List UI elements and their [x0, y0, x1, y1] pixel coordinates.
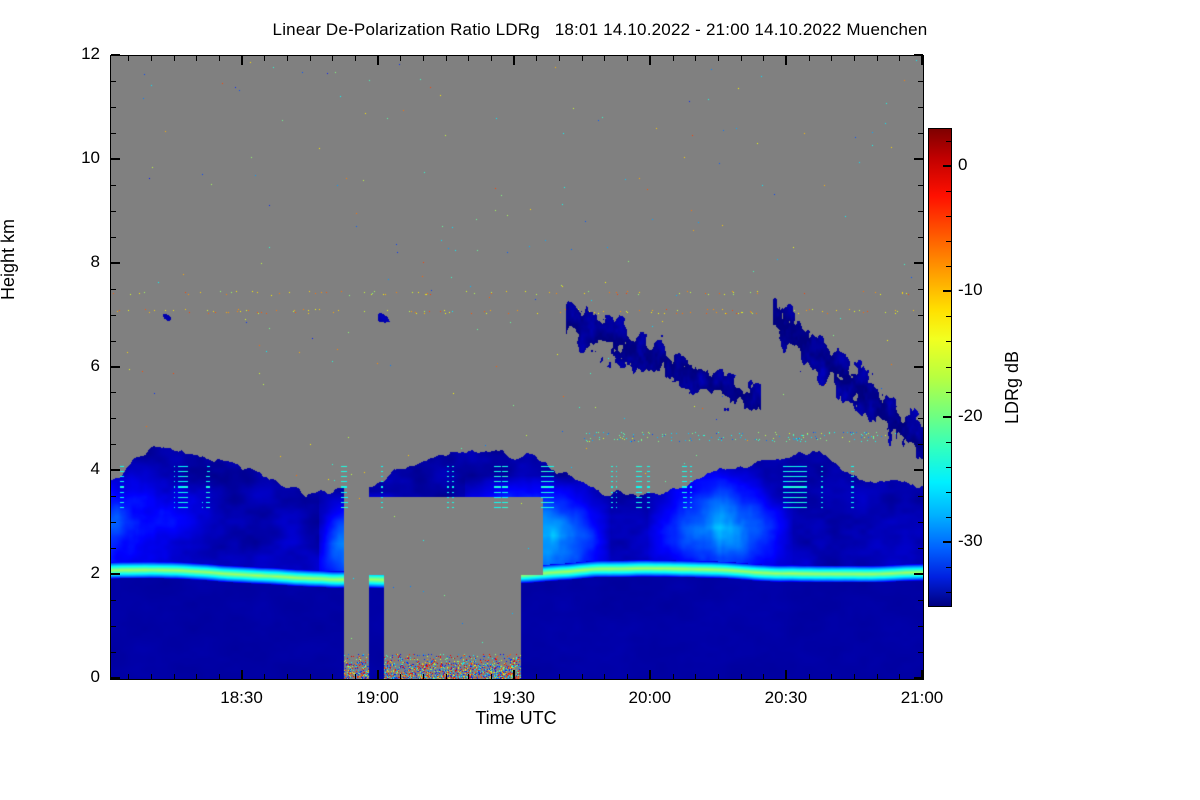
x-tick-minor-top [741, 56, 742, 61]
y-tick-minor-right [918, 237, 923, 238]
colorbar-tick-minor [946, 241, 951, 242]
colorbar-tick-minor [946, 191, 951, 192]
y-tick-label: 6 [56, 356, 100, 376]
ldr-heatmap-canvas[interactable] [111, 56, 923, 679]
x-tick-minor-top [877, 56, 878, 61]
y-axis-title: Height km [0, 219, 19, 300]
x-tick-minor-top [491, 56, 492, 61]
x-tick-minor [468, 674, 469, 679]
colorbar-tick-major [943, 416, 951, 418]
y-tick-major [111, 54, 120, 56]
y-tick-major-right [914, 573, 923, 575]
colorbar-tick-minor [946, 316, 951, 317]
y-tick-minor [111, 496, 116, 497]
x-tick-minor-top [582, 56, 583, 61]
y-tick-label: 10 [56, 148, 100, 168]
x-tick-minor-top [468, 56, 469, 61]
x-tick-minor-top [196, 56, 197, 61]
y-tick-label: 4 [56, 459, 100, 479]
x-tick-major-top [785, 56, 787, 65]
y-tick-minor-right [918, 315, 923, 316]
x-tick-label: 19:30 [474, 688, 554, 708]
x-tick-minor [831, 674, 832, 679]
x-tick-major [649, 670, 651, 679]
x-tick-minor [151, 674, 152, 679]
x-tick-minor-top [151, 56, 152, 61]
x-tick-label: 20:30 [746, 688, 826, 708]
y-tick-minor [111, 289, 116, 290]
y-tick-minor-right [918, 289, 923, 290]
x-tick-minor-top [332, 56, 333, 61]
colorbar-tick-major [943, 290, 951, 292]
y-tick-minor [111, 107, 116, 108]
x-tick-minor [695, 674, 696, 679]
y-tick-minor [111, 341, 116, 342]
x-tick-major [513, 670, 515, 679]
x-tick-minor [604, 674, 605, 679]
x-tick-minor [854, 674, 855, 679]
y-tick-major [111, 158, 120, 160]
y-tick-minor [111, 392, 116, 393]
x-tick-minor-top [899, 56, 900, 61]
y-tick-label: 8 [56, 252, 100, 272]
y-tick-minor [111, 133, 116, 134]
y-tick-minor-right [918, 392, 923, 393]
x-tick-minor [264, 674, 265, 679]
x-tick-minor [809, 674, 810, 679]
x-tick-major-top [513, 56, 515, 65]
x-tick-minor [196, 674, 197, 679]
colorbar-tick-minor [946, 567, 951, 568]
colorbar-tick-major [943, 165, 951, 167]
y-tick-major [111, 366, 120, 368]
y-tick-major-right [914, 469, 923, 471]
x-tick-minor-top [423, 56, 424, 61]
x-tick-major [785, 670, 787, 679]
y-tick-minor-right [918, 185, 923, 186]
y-tick-minor [111, 237, 116, 238]
y-tick-minor-right [918, 107, 923, 108]
colorbar-tick-minor [946, 266, 951, 267]
y-tick-minor-right [918, 444, 923, 445]
x-tick-minor [877, 674, 878, 679]
y-tick-major [111, 573, 120, 575]
y-tick-minor [111, 418, 116, 419]
colorbar-title: LDRg dB [1002, 351, 1023, 424]
x-tick-minor [128, 674, 129, 679]
colorbar[interactable] [928, 128, 952, 607]
colorbar-tick-major [943, 541, 951, 543]
x-tick-minor-top [400, 56, 401, 61]
x-tick-minor-top [264, 56, 265, 61]
colorbar-tick-label: 0 [958, 155, 967, 175]
y-tick-major-right [914, 366, 923, 368]
y-tick-minor-right [918, 81, 923, 82]
y-tick-minor-right [918, 548, 923, 549]
x-tick-minor [899, 674, 900, 679]
y-tick-major-right [914, 262, 923, 264]
x-tick-major-top [649, 56, 651, 65]
x-tick-label: 21:00 [882, 688, 962, 708]
x-tick-minor [400, 674, 401, 679]
y-tick-label: 12 [56, 44, 100, 64]
y-tick-minor-right [918, 496, 923, 497]
x-tick-minor [627, 674, 628, 679]
colorbar-tick-minor [946, 517, 951, 518]
colorbar-tick-minor [946, 442, 951, 443]
y-tick-minor [111, 522, 116, 523]
y-tick-minor [111, 600, 116, 601]
y-tick-minor [111, 548, 116, 549]
radar-ldr-plot: Linear De-Polarization Ratio LDRg 18:01 … [0, 0, 1200, 800]
x-tick-minor [673, 674, 674, 679]
y-tick-minor [111, 626, 116, 627]
x-tick-minor-top [355, 56, 356, 61]
colorbar-tick-minor [946, 392, 951, 393]
y-tick-major [111, 262, 120, 264]
x-tick-minor [559, 674, 560, 679]
x-tick-minor-top [854, 56, 855, 61]
colorbar-tick-minor [946, 141, 951, 142]
x-tick-minor [423, 674, 424, 679]
x-tick-minor-top [763, 56, 764, 61]
x-tick-major [241, 670, 243, 679]
x-tick-minor-top [627, 56, 628, 61]
x-tick-minor-top [128, 56, 129, 61]
y-tick-minor [111, 444, 116, 445]
x-tick-minor [741, 674, 742, 679]
y-tick-minor [111, 211, 116, 212]
x-tick-minor-top [831, 56, 832, 61]
x-tick-minor-top [695, 56, 696, 61]
x-tick-minor [310, 674, 311, 679]
x-tick-minor [763, 674, 764, 679]
y-tick-label: 2 [56, 563, 100, 583]
x-tick-minor [491, 674, 492, 679]
y-tick-minor-right [918, 133, 923, 134]
colorbar-tick-label: -20 [958, 406, 983, 426]
x-tick-minor-top [718, 56, 719, 61]
x-tick-minor [219, 674, 220, 679]
colorbar-tick-minor [946, 467, 951, 468]
x-tick-minor-top [673, 56, 674, 61]
y-tick-minor [111, 652, 116, 653]
x-tick-major-top [377, 56, 379, 65]
x-tick-minor [332, 674, 333, 679]
y-tick-minor-right [918, 341, 923, 342]
x-tick-minor-top [287, 56, 288, 61]
x-tick-minor-top [536, 56, 537, 61]
y-tick-label: 0 [56, 667, 100, 687]
x-tick-minor [718, 674, 719, 679]
x-axis-title: Time UTC [0, 708, 1032, 729]
x-tick-minor-top [310, 56, 311, 61]
y-tick-minor-right [918, 522, 923, 523]
plot-title: Linear De-Polarization Ratio LDRg 18:01 … [0, 20, 1200, 40]
colorbar-tick-minor [946, 341, 951, 342]
y-tick-major [111, 469, 120, 471]
colorbar-tick-label: -10 [958, 280, 983, 300]
x-tick-minor [582, 674, 583, 679]
y-tick-minor-right [918, 626, 923, 627]
y-tick-major [111, 677, 120, 679]
x-tick-minor [446, 674, 447, 679]
y-tick-minor-right [918, 600, 923, 601]
x-tick-major-top [241, 56, 243, 65]
colorbar-tick-minor [946, 367, 951, 368]
x-tick-major [377, 670, 379, 679]
x-tick-minor [287, 674, 288, 679]
colorbar-tick-minor [946, 492, 951, 493]
x-tick-minor [355, 674, 356, 679]
x-tick-major-top [921, 56, 923, 65]
x-tick-minor [174, 674, 175, 679]
colorbar-tick-minor [946, 592, 951, 593]
plot-area[interactable] [110, 55, 924, 680]
x-tick-minor [536, 674, 537, 679]
x-tick-minor-top [219, 56, 220, 61]
colorbar-tick-label: -30 [958, 531, 983, 551]
y-tick-minor [111, 185, 116, 186]
colorbar-tick-minor [946, 216, 951, 217]
y-tick-minor-right [918, 652, 923, 653]
y-tick-minor [111, 315, 116, 316]
x-tick-minor-top [446, 56, 447, 61]
x-tick-minor-top [559, 56, 560, 61]
x-tick-minor-top [174, 56, 175, 61]
x-tick-label: 19:00 [338, 688, 418, 708]
y-tick-minor [111, 81, 116, 82]
y-tick-minor-right [918, 418, 923, 419]
x-tick-label: 18:30 [202, 688, 282, 708]
y-tick-major-right [914, 158, 923, 160]
x-tick-label: 20:00 [610, 688, 690, 708]
x-tick-minor-top [809, 56, 810, 61]
x-tick-major [921, 670, 923, 679]
y-tick-minor-right [918, 211, 923, 212]
x-tick-minor-top [604, 56, 605, 61]
